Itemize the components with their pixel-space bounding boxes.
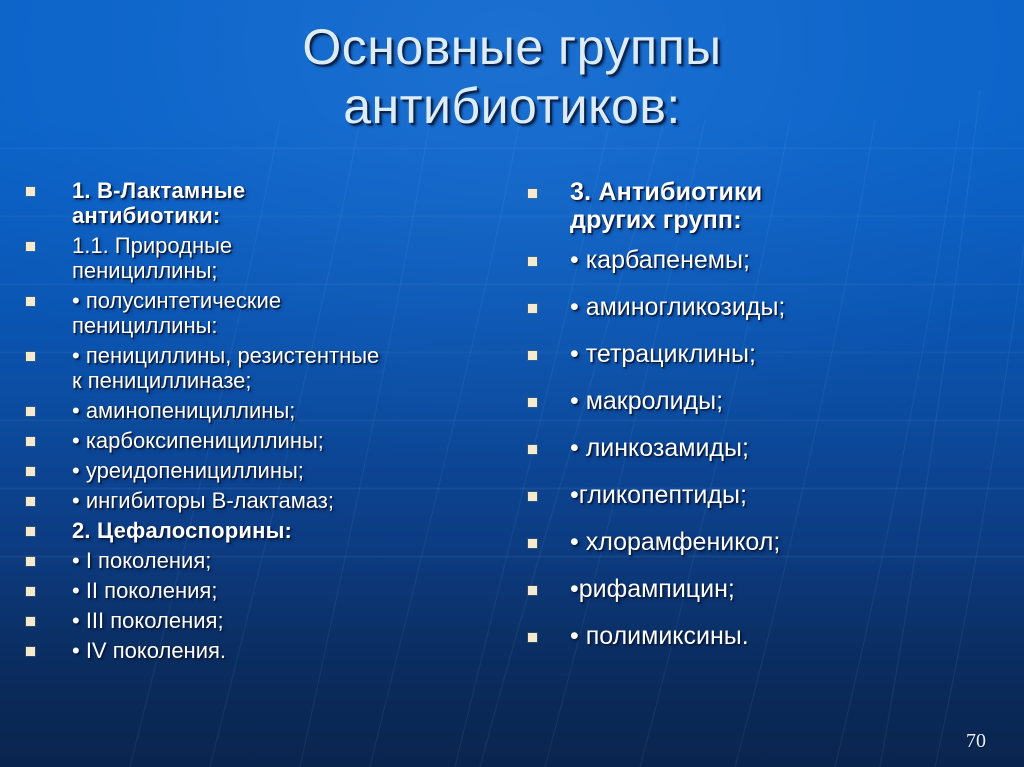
page-number: 70 xyxy=(966,730,986,753)
list-item-label: • аминопенициллины; xyxy=(72,398,526,423)
list-item-label: • I поколения; xyxy=(72,548,526,573)
list-item-label: • II поколения; xyxy=(72,578,526,603)
list-item: • карбапенемы; xyxy=(522,246,1012,274)
square-bullet-icon xyxy=(26,617,35,626)
list-item-label: • полусинтетические пенициллины: xyxy=(72,288,526,338)
list-item: • тетрациклины; xyxy=(522,340,1012,368)
list-item-label: 1.1. Природные пенициллины; xyxy=(72,233,526,283)
square-bullet-icon xyxy=(528,304,537,313)
list-item: 1. В-Лактамные антибиотики: xyxy=(26,178,526,228)
square-bullet-icon xyxy=(26,297,35,306)
list-item: 1.1. Природные пенициллины; xyxy=(26,233,526,283)
left-bullet-column: 1. В-Лактамные антибиотики: 1.1. Природн… xyxy=(26,178,526,668)
list-item: • аминогликозиды; xyxy=(522,293,1012,321)
list-item-label: • IV поколения. xyxy=(72,638,526,663)
list-item-label: • пенициллины, резистентные к пенициллин… xyxy=(72,343,526,393)
list-item: • аминопенициллины; xyxy=(26,398,526,423)
list-item: • карбоксипенициллины; xyxy=(26,428,526,453)
list-item-label: • III поколения; xyxy=(72,608,526,633)
list-item-label: • аминогликозиды; xyxy=(570,293,1012,321)
list-item: • хлорамфеникол; xyxy=(522,528,1012,556)
list-item: • III поколения; xyxy=(26,608,526,633)
list-item-label: •гликопептиды; xyxy=(570,481,1012,509)
square-bullet-icon xyxy=(528,633,537,642)
presentation-slide: Основные группы антибиотиков: 1. В-Лакта… xyxy=(0,0,1024,767)
list-item-label: • линкозамиды; xyxy=(570,434,1012,462)
list-item: • ингибиторы В-лактамаз; xyxy=(26,488,526,513)
square-bullet-icon xyxy=(26,437,35,446)
list-item: • уреидопенициллины; xyxy=(26,458,526,483)
list-item-label: 1. В-Лактамные антибиотики: xyxy=(72,178,526,228)
square-bullet-icon xyxy=(26,527,35,536)
square-bullet-icon xyxy=(528,257,537,266)
list-item: • макролиды; xyxy=(522,387,1012,415)
slide-title: Основные группы антибиотиков: xyxy=(0,18,1024,136)
list-item-label: • карбапенемы; xyxy=(570,246,1012,274)
square-bullet-icon xyxy=(26,497,35,506)
square-bullet-icon xyxy=(26,587,35,596)
list-item: • линкозамиды; xyxy=(522,434,1012,462)
list-item: •рифампицин; xyxy=(522,575,1012,603)
list-item: • полимиксины. xyxy=(522,622,1012,650)
list-item-label: • полимиксины. xyxy=(570,622,1012,650)
square-bullet-icon xyxy=(26,557,35,566)
list-item: • II поколения; xyxy=(26,578,526,603)
square-bullet-icon xyxy=(528,398,537,407)
list-item: • пенициллины, резистентные к пенициллин… xyxy=(26,343,526,393)
square-bullet-icon xyxy=(528,586,537,595)
list-item: • IV поколения. xyxy=(26,638,526,663)
list-item: • I поколения; xyxy=(26,548,526,573)
list-item-label: • ингибиторы В-лактамаз; xyxy=(72,488,526,513)
right-bullet-column: 3. Антибиотики других групп: • карбапене… xyxy=(522,178,1012,669)
square-bullet-icon xyxy=(26,187,35,196)
list-item: •гликопептиды; xyxy=(522,481,1012,509)
list-item-label: 2. Цефалоспорины: xyxy=(72,518,526,543)
square-bullet-icon xyxy=(528,189,537,198)
list-item-label: •рифампицин; xyxy=(570,575,1012,603)
list-item-label: 3. Антибиотики других групп: xyxy=(570,178,1012,234)
square-bullet-icon xyxy=(528,492,537,501)
square-bullet-icon xyxy=(26,467,35,476)
list-item: • полусинтетические пенициллины: xyxy=(26,288,526,338)
list-item: 3. Антибиотики других групп: xyxy=(522,178,1012,234)
square-bullet-icon xyxy=(528,445,537,454)
list-item-label: • тетрациклины; xyxy=(570,340,1012,368)
list-item-label: • карбоксипенициллины; xyxy=(72,428,526,453)
list-item-label: • макролиды; xyxy=(570,387,1012,415)
square-bullet-icon xyxy=(528,351,537,360)
square-bullet-icon xyxy=(528,539,537,548)
square-bullet-icon xyxy=(26,647,35,656)
list-item-label: • хлорамфеникол; xyxy=(570,528,1012,556)
square-bullet-icon xyxy=(26,242,35,251)
list-item: 2. Цефалоспорины: xyxy=(26,518,526,543)
square-bullet-icon xyxy=(26,352,35,361)
square-bullet-icon xyxy=(26,407,35,416)
list-item-label: • уреидопенициллины; xyxy=(72,458,526,483)
